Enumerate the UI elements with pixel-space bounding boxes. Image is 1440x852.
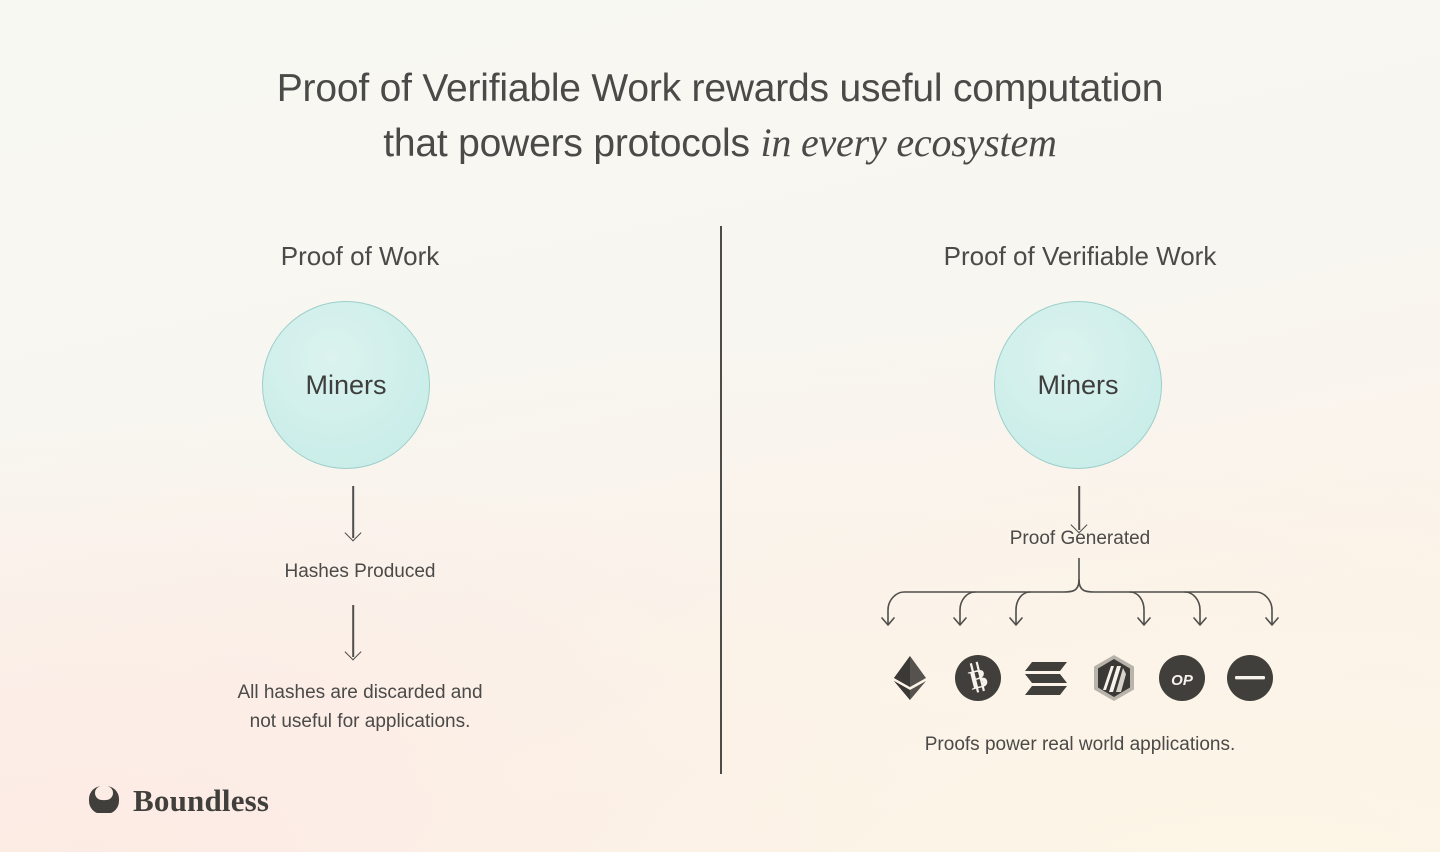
- bitcoin-icon[interactable]: B: [955, 654, 1002, 701]
- boundless-logo-icon: [88, 785, 120, 818]
- protocol-icons-row: B: [720, 654, 1440, 701]
- left-arrow-to-hashes: [346, 486, 360, 538]
- left-bottom-line-2: not useful for applications.: [250, 711, 471, 732]
- left-column-heading: Proof of Work: [0, 241, 720, 272]
- right-bottom-text: Proofs power real world applications.: [720, 734, 1440, 756]
- ethereum-icon[interactable]: [887, 654, 934, 701]
- proof-of-verifiable-work-column: Proof of Verifiable Work Miners Proof Ge…: [720, 0, 1440, 852]
- right-arrow-to-proof: [1072, 486, 1086, 530]
- arbitrum-icon[interactable]: [1091, 654, 1138, 701]
- brand-name: Boundless: [133, 783, 269, 819]
- proof-of-work-column: Proof of Work Miners Hashes Produced All…: [0, 0, 720, 852]
- left-bottom-line-1: All hashes are discarded and: [237, 682, 482, 703]
- branching-connector: [870, 558, 1290, 650]
- right-miners-node: Miners: [994, 301, 1162, 469]
- boundless-brand[interactable]: Boundless: [88, 783, 269, 819]
- right-column-heading: Proof of Verifiable Work: [720, 241, 1440, 272]
- arrow-head: [345, 644, 362, 661]
- right-middle-label: Proof Generated: [720, 528, 1440, 550]
- arrow-head: [345, 525, 362, 542]
- left-miners-label: Miners: [305, 370, 386, 401]
- left-middle-label: Hashes Produced: [0, 561, 720, 583]
- left-miners-node: Miners: [262, 301, 430, 469]
- left-bottom-text: All hashes are discarded and not useful …: [0, 678, 720, 736]
- base-icon[interactable]: [1227, 654, 1274, 701]
- right-miners-label: Miners: [1037, 370, 1118, 401]
- optimism-icon[interactable]: OP: [1159, 654, 1206, 701]
- left-arrow-to-discarded: [346, 605, 360, 657]
- diagram-canvas: Proof of Verifiable Work rewards useful …: [0, 0, 1440, 852]
- svg-text:OP: OP: [1171, 672, 1194, 689]
- solana-icon[interactable]: [1023, 654, 1070, 701]
